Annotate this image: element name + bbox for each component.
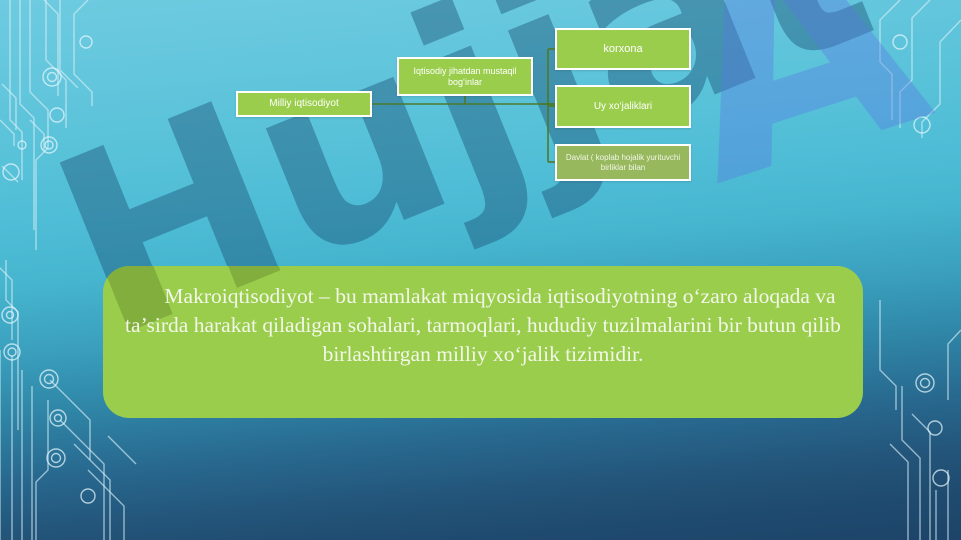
org-chart: Milliy iqtisodiyot Iqtisodiy jihatdan mu… (0, 0, 961, 250)
presentation-slide: Hujjat A Milliy iqtisodiyot Iqtisodiy ji… (0, 0, 961, 540)
chart-node-korxona[interactable]: korxona (555, 28, 691, 70)
chart-node-label: Milliy iqtisodiyot (242, 98, 366, 110)
definition-panel: Hujjat Makroiqtisodiyot – bu mamlakat mi… (103, 266, 863, 418)
definition-text: Makroiqtisodiyot – bu mamlakat miqyosida… (103, 266, 863, 370)
org-chart-connectors (0, 0, 961, 250)
chart-node-davlat[interactable]: Davlat ( koplab hojalik yurituvchi birli… (555, 144, 691, 181)
chart-node-label: korxona (561, 43, 685, 56)
chart-node-mustaqil-boginlar[interactable]: Iqtisodiy jihatdan mustaqil bog‘inlar (397, 57, 533, 96)
chart-node-label: Uy xo‘jaliklari (561, 101, 685, 113)
chart-node-uy-xojaliklari[interactable]: Uy xo‘jaliklari (555, 85, 691, 128)
chart-node-label: Iqtisodiy jihatdan mustaqil bog‘inlar (403, 66, 527, 87)
chart-node-label: Davlat ( koplab hojalik yurituvchi birli… (561, 153, 685, 171)
chart-node-milliy-iqtisodiyot[interactable]: Milliy iqtisodiyot (236, 91, 372, 117)
